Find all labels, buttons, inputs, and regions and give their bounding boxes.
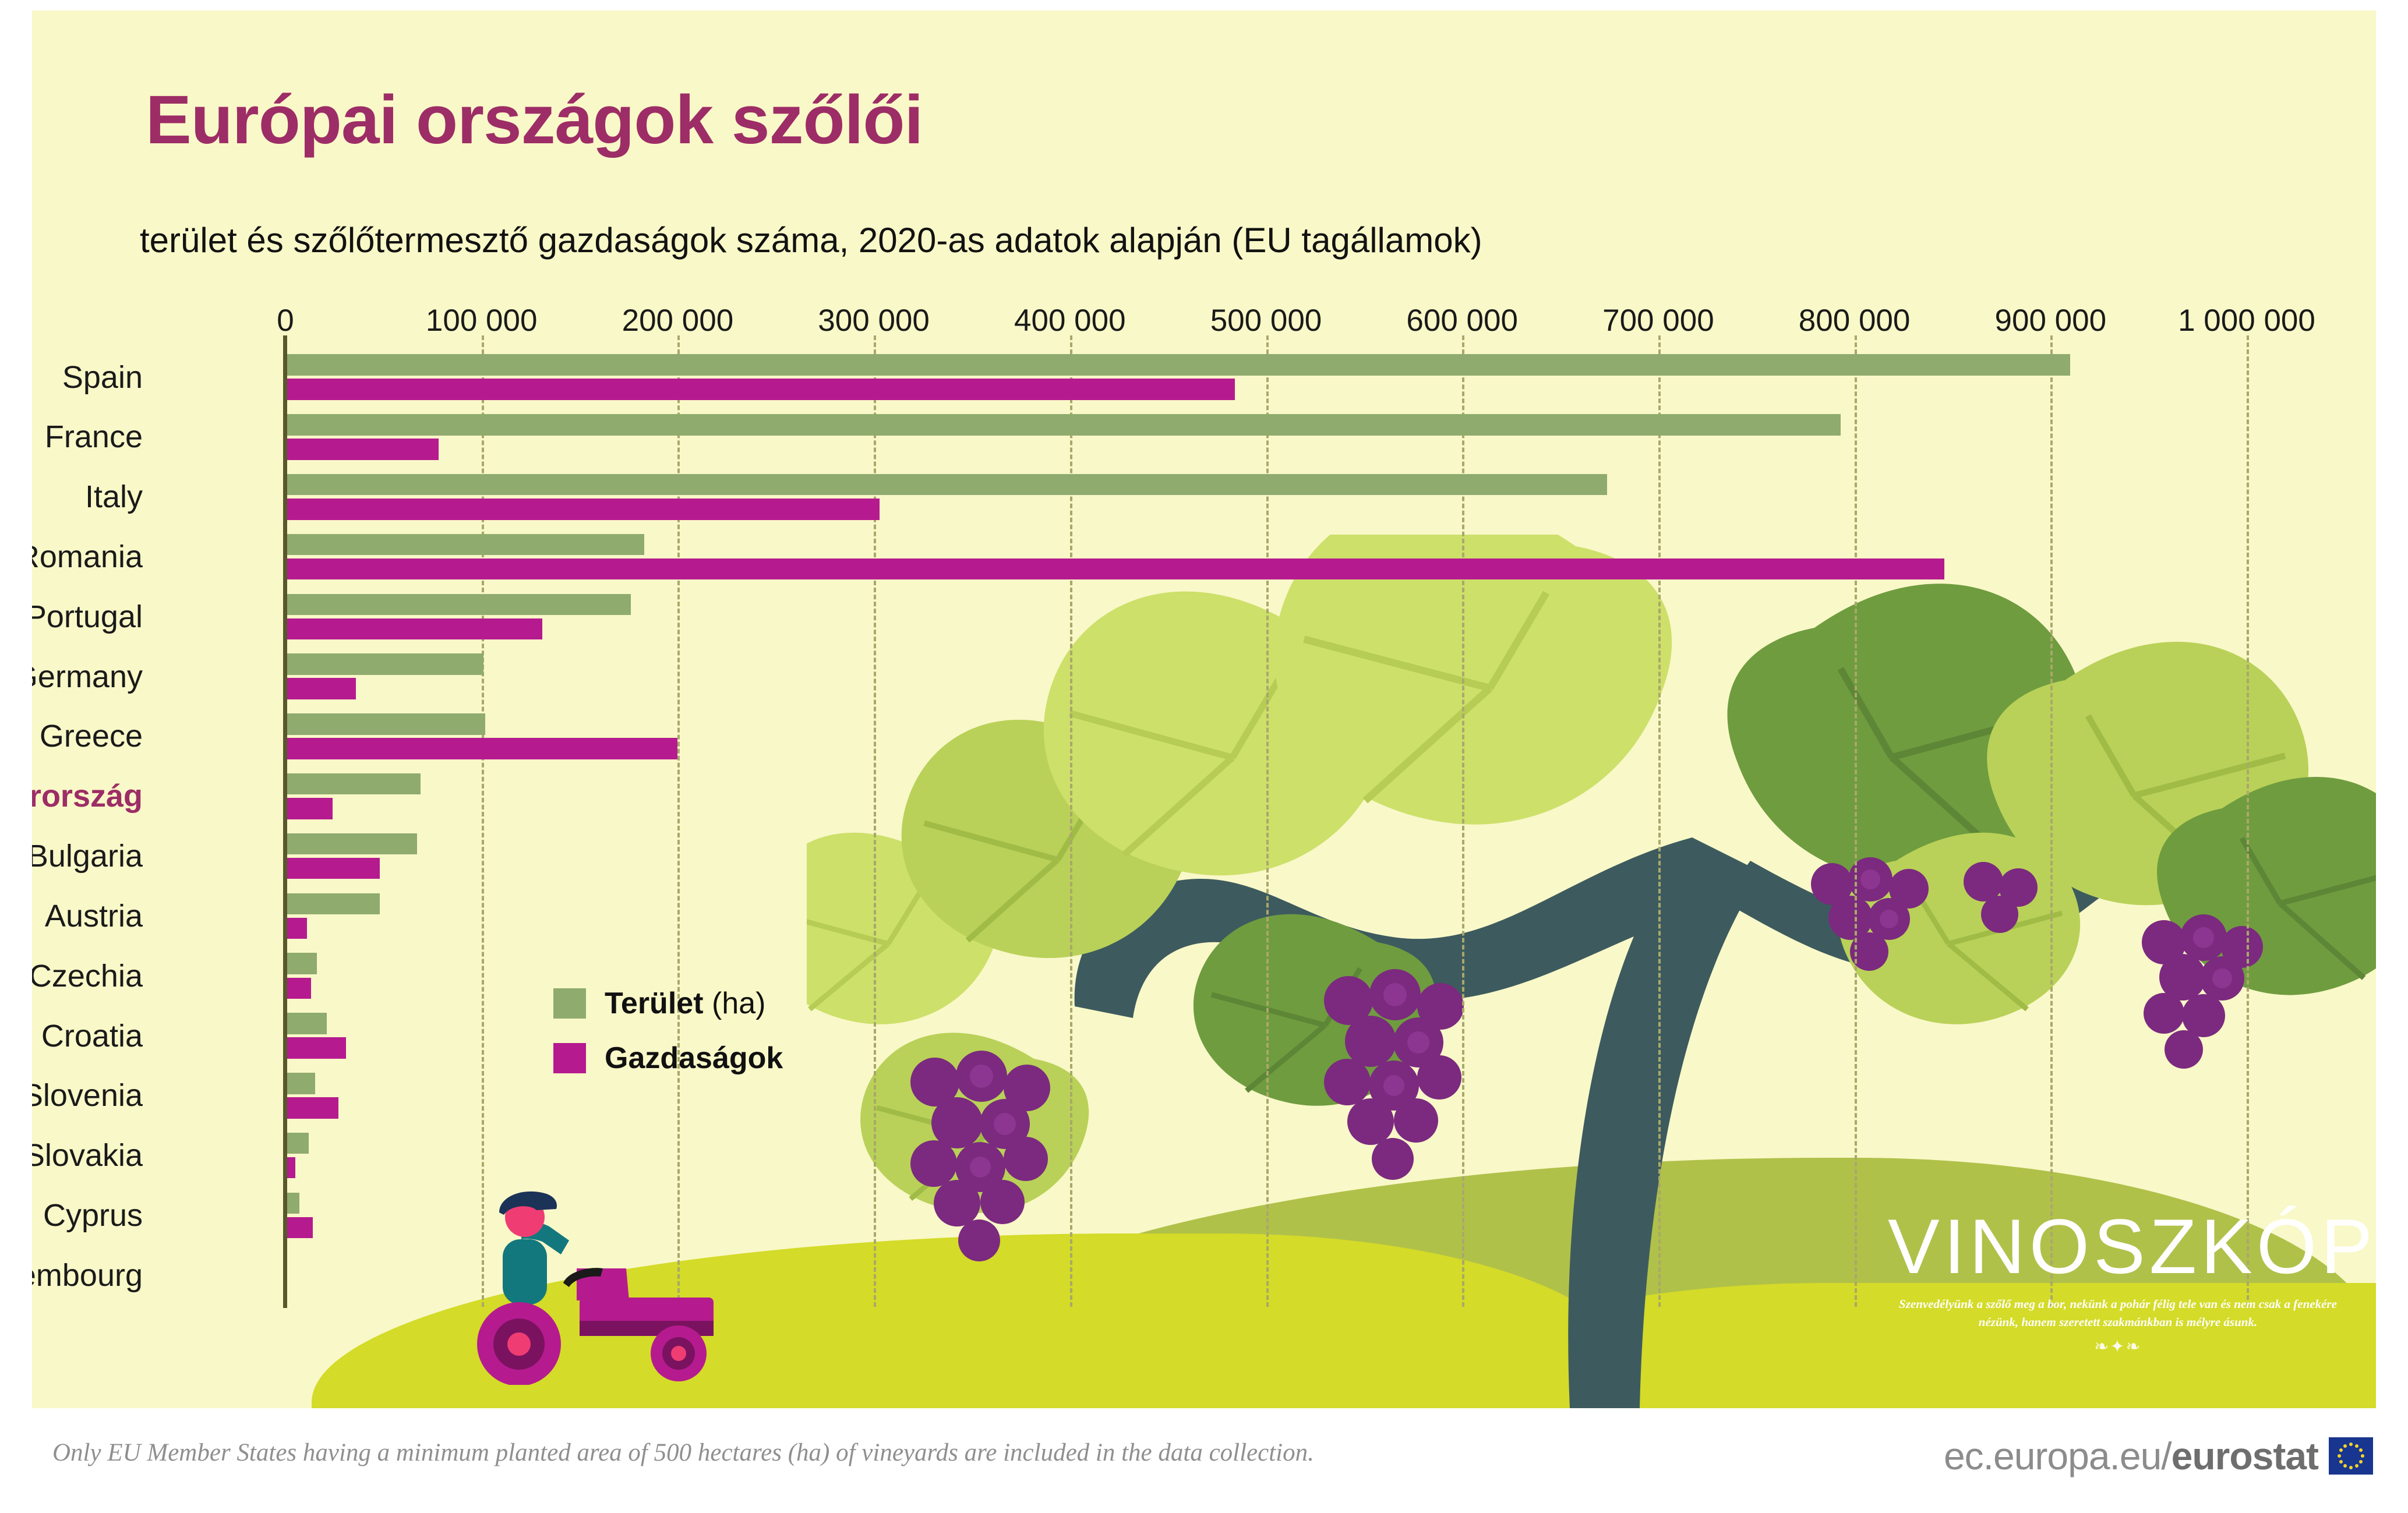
gridline <box>2050 335 2053 1307</box>
vinoszkop-badge: VINOSZKÓP Szenvedélyünk a szőlő meg a bo… <box>1888 1208 2348 1357</box>
bar-farms-bulgaria <box>285 858 380 879</box>
bar-area-magyarország <box>285 773 421 794</box>
gridline <box>1658 335 1661 1307</box>
bar-farms-cyprus <box>285 1217 313 1238</box>
bar-farms-magyarország <box>285 798 333 819</box>
gridline <box>2247 335 2249 1307</box>
bar-farms-romania <box>285 558 1944 579</box>
eu-star-icon <box>2343 1464 2347 1468</box>
category-label-croatia: Croatia <box>41 1018 143 1054</box>
eu-star-icon <box>2338 1454 2341 1458</box>
category-label-spain: Spain <box>62 359 143 395</box>
bar-farms-czechia <box>285 978 311 999</box>
eu-star-icon <box>2339 1460 2343 1463</box>
page-subtitle: terület és szőlőtermesztő gazdaságok szá… <box>140 220 1482 260</box>
bar-farms-austria <box>285 918 307 939</box>
chart-legend: Terület (ha) Gazdaságok <box>553 986 783 1095</box>
legend-item-area: Terület (ha) <box>553 986 783 1021</box>
bar-farms-italy <box>285 499 880 519</box>
eu-star-icon <box>2349 1466 2353 1469</box>
vinoszkop-tagline: Szenvedélyünk a szőlő meg a bor, nekünk … <box>1888 1295 2348 1331</box>
category-label-cyprus: Cyprus <box>43 1197 143 1233</box>
legend-item-farms: Gazdaságok <box>553 1041 783 1076</box>
y-axis-line <box>283 335 287 1308</box>
bar-area-romania <box>285 534 644 555</box>
bar-farms-portugal <box>285 618 542 639</box>
category-label-italy: Italy <box>85 479 143 515</box>
bar-area-italy <box>285 474 1607 495</box>
category-label-luxembourg: Luxembourg <box>32 1257 143 1293</box>
bar-area-germany <box>285 653 483 674</box>
x-tick-label: 500 000 <box>1210 303 1322 338</box>
eu-star-icon <box>2355 1444 2358 1448</box>
x-tick-label: 600 000 <box>1406 303 1518 338</box>
eu-star-icon <box>2343 1444 2347 1448</box>
eu-star-icon <box>2361 1454 2364 1458</box>
category-label-germany: Germany <box>32 659 143 695</box>
bar-area-czechia <box>285 953 317 974</box>
bar-area-cyprus <box>285 1193 299 1214</box>
poster-panel: Európai országok szőlői terület és szőlő… <box>32 10 2376 1408</box>
bar-area-france <box>285 414 1841 435</box>
eu-flag-icon <box>2329 1437 2373 1475</box>
legend-label-farms: Gazdaságok <box>605 1041 783 1076</box>
category-label-slovenia: Slovenia <box>32 1077 143 1113</box>
x-tick-label: 1 000 000 <box>2178 303 2315 338</box>
bar-farms-france <box>285 439 439 459</box>
category-label-france: France <box>45 419 143 455</box>
legend-label-area: Terület (ha) <box>605 986 765 1021</box>
page-title: Európai országok szőlői <box>146 80 923 160</box>
bar-farms-germany <box>285 678 356 699</box>
category-label-magyarország: Magyarország <box>32 778 143 814</box>
x-tick-label: 0 <box>277 303 294 338</box>
bar-area-spain <box>285 354 2070 375</box>
infographic-canvas: Európai országok szőlői terület és szőlő… <box>0 0 2408 1513</box>
x-tick-label: 900 000 <box>1995 303 2107 338</box>
eu-star-icon <box>2355 1464 2358 1468</box>
eu-star-icon <box>2349 1443 2353 1446</box>
bar-farms-croatia <box>285 1037 346 1058</box>
eu-star-icon <box>2359 1460 2363 1463</box>
eu-star-icon <box>2339 1448 2343 1452</box>
tractor-illustration <box>434 1152 760 1385</box>
category-label-slovakia: Slovakia <box>32 1137 143 1173</box>
bar-area-austria <box>285 893 380 914</box>
legend-swatch-farms <box>553 1043 586 1073</box>
bar-area-greece <box>285 713 485 734</box>
bar-area-croatia <box>285 1013 327 1034</box>
x-tick-label: 200 000 <box>622 303 734 338</box>
x-tick-label: 800 000 <box>1799 303 1911 338</box>
bar-area-bulgaria <box>285 833 417 854</box>
x-tick-label: 300 000 <box>818 303 930 338</box>
category-label-bulgaria: Bulgaria <box>32 838 143 874</box>
bar-farms-slovenia <box>285 1097 338 1118</box>
footnote-text: Only EU Member States having a minimum p… <box>52 1438 1314 1467</box>
legend-swatch-area <box>553 988 586 1019</box>
x-tick-label: 100 000 <box>426 303 538 338</box>
eurostat-branding[interactable]: ec.europa.eu/eurostat <box>1944 1434 2373 1478</box>
category-label-austria: Austria <box>45 898 143 934</box>
flourish-ornament-icon: ❧✦❧ <box>1888 1337 2348 1357</box>
bar-farms-greece <box>285 738 677 759</box>
bar-farms-spain <box>285 379 1235 400</box>
category-label-czechia: Czechia <box>32 958 143 994</box>
eurostat-url[interactable]: ec.europa.eu/eurostat <box>1944 1434 2318 1478</box>
x-tick-label: 400 000 <box>1014 303 1126 338</box>
bar-area-portugal <box>285 594 631 615</box>
vinoszkop-wordmark: VINOSZKÓP <box>1888 1208 2348 1286</box>
category-label-greece: Greece <box>40 718 143 754</box>
x-tick-label: 700 000 <box>1602 303 1714 338</box>
category-label-portugal: Portugal <box>32 599 143 635</box>
eu-star-icon <box>2359 1448 2363 1452</box>
category-label-romania: Romania <box>32 539 143 575</box>
bar-area-slovenia <box>285 1073 315 1094</box>
bar-area-slovakia <box>285 1133 309 1154</box>
gridline <box>1855 335 1857 1307</box>
